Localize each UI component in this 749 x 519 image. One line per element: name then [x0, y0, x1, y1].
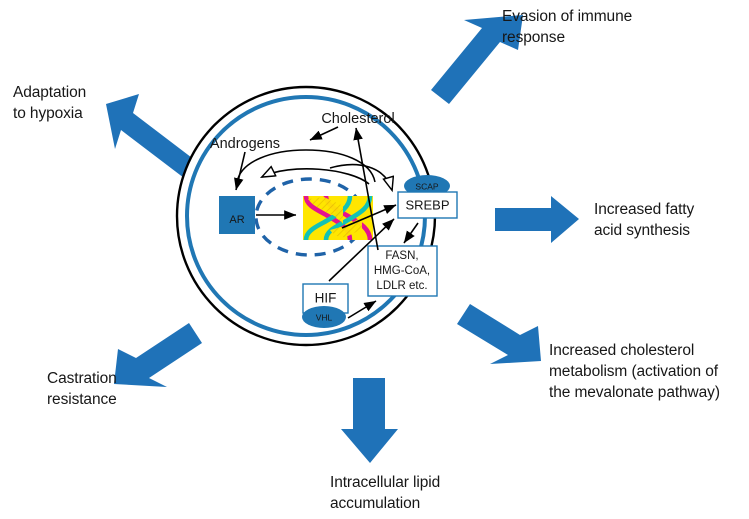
label-increased-fatty-acid-synthesis: Increased fatty acid synthesis	[594, 199, 744, 241]
ar-node: AR	[219, 196, 255, 234]
label-increased-cholesterol-metabolism: Increased cholesterol metabolism (activa…	[549, 340, 749, 403]
pathway-diagram: AR SCAP SREBP FASN, HMG-CoA, LDLR etc. H…	[0, 0, 749, 519]
fasn-node: FASN, HMG-CoA, LDLR etc.	[368, 246, 437, 296]
fasn-label-line-3: LDLR etc.	[376, 280, 427, 292]
srebp-node: SREBP	[398, 192, 457, 218]
label-intracellular-lipid-accumulation: Intracellular lipid accumulation	[330, 472, 500, 514]
fasn-label-line-1: FASN,	[385, 250, 418, 262]
vhl-node: VHL	[302, 306, 346, 328]
arrow-increased-fatty-acid-synthesis	[495, 196, 579, 243]
label-adaptation-to-hypoxia: Adaptation to hypoxia	[13, 82, 143, 124]
cholesterol-label: Cholesterol	[321, 111, 394, 127]
androgens-label: Androgens	[210, 136, 280, 152]
label-castration-resistance: Castration resistance	[47, 368, 187, 410]
arrow-increased-cholesterol-metabolism	[457, 304, 541, 364]
dna-double-helix	[303, 196, 373, 240]
scap-label: SCAP	[415, 181, 438, 191]
diagram-canvas: AR SCAP SREBP FASN, HMG-CoA, LDLR etc. H…	[0, 0, 749, 519]
ar-label: AR	[229, 214, 244, 226]
srebp-label: SREBP	[405, 197, 449, 212]
arrow-intracellular-lipid-accumulation	[341, 378, 398, 463]
fasn-label-line-2: HMG-CoA,	[374, 265, 430, 277]
vhl-label: VHL	[316, 312, 333, 322]
label-evasion-of-immune-response: Evasion of immune response	[502, 6, 682, 48]
hif-label: HIF	[315, 291, 337, 306]
